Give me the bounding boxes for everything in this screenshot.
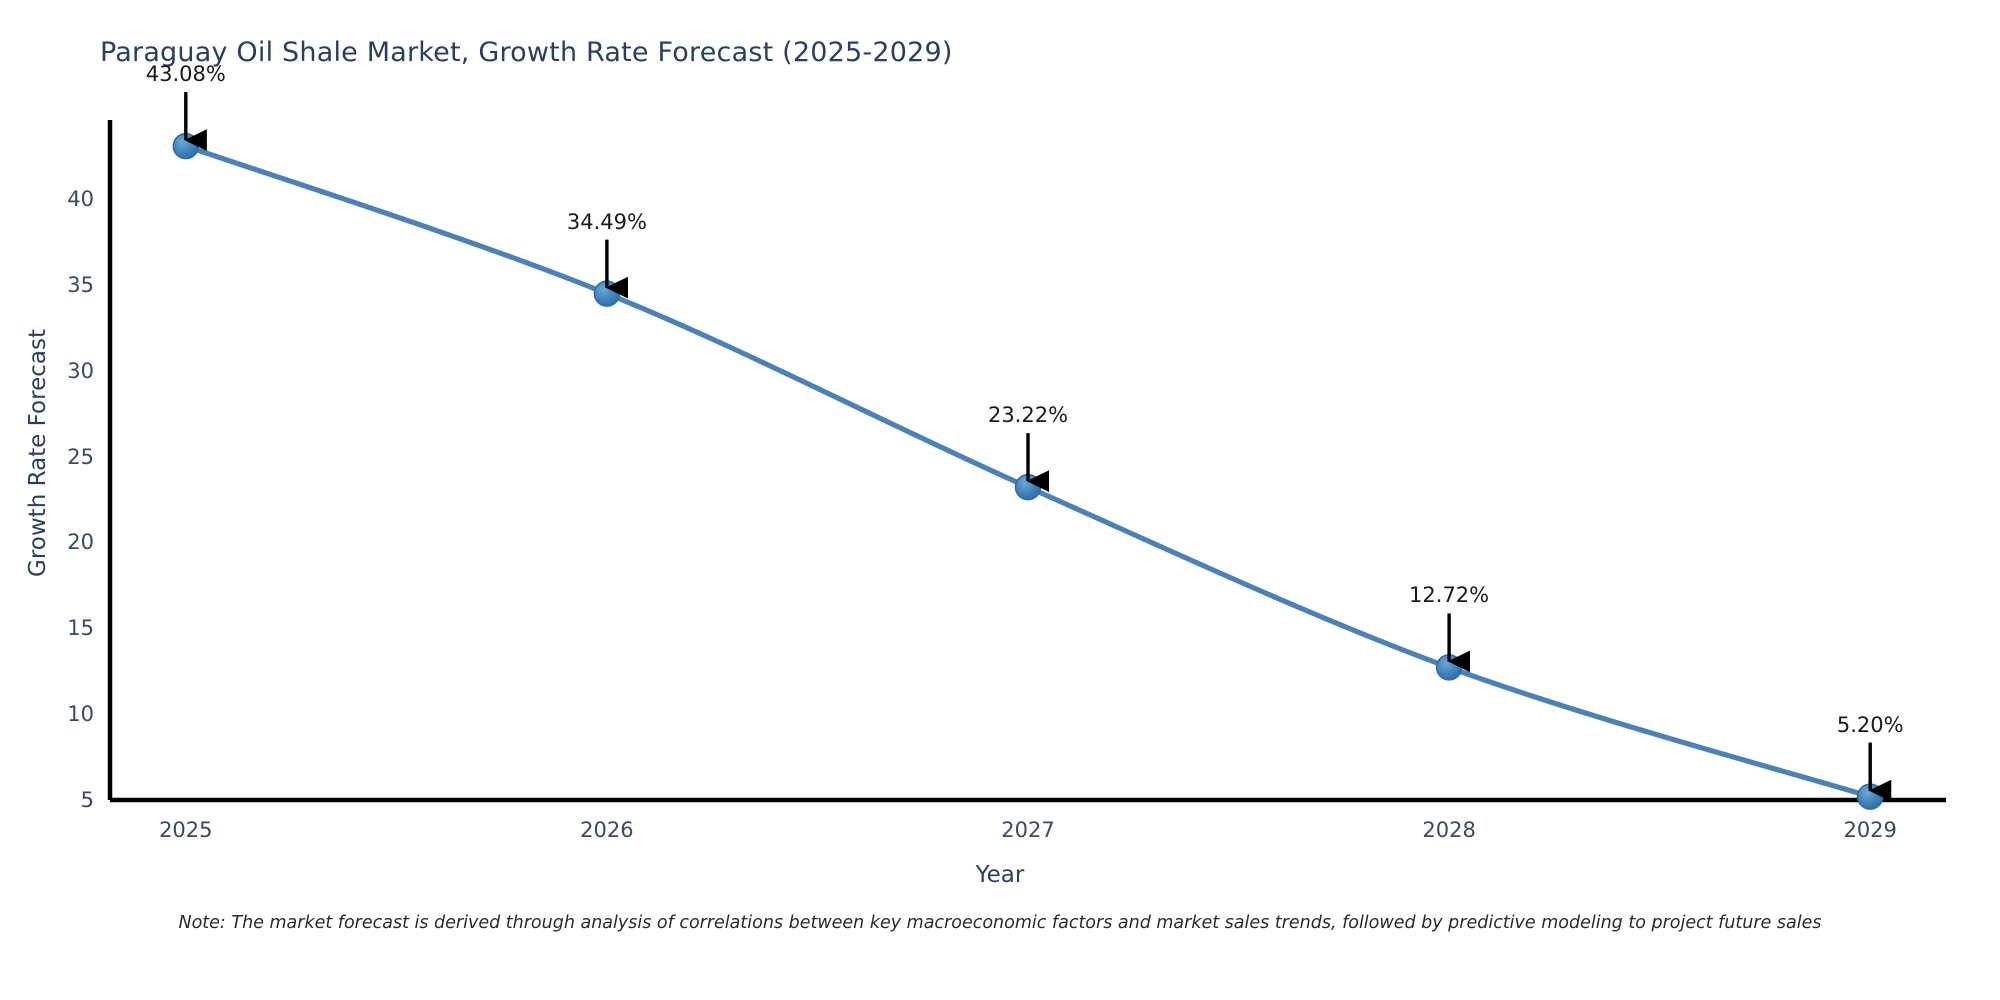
plot-canvas <box>0 0 2000 1000</box>
x-tick-label: 2025 <box>106 818 266 842</box>
y-tick-label: 15 <box>24 616 94 640</box>
y-tick-label: 10 <box>24 702 94 726</box>
x-tick-label: 2028 <box>1369 818 1529 842</box>
data-point-label: 23.22% <box>928 403 1128 427</box>
data-point-label: 12.72% <box>1349 583 1549 607</box>
data-point-label: 34.49% <box>507 210 707 234</box>
y-tick-label: 5 <box>24 788 94 812</box>
x-tick-label: 2027 <box>948 818 1108 842</box>
x-tick-label: 2029 <box>1790 818 1950 842</box>
data-point-label: 5.20% <box>1770 713 1970 737</box>
y-tick-label: 30 <box>24 359 94 383</box>
y-tick-label: 20 <box>24 530 94 554</box>
y-tick-label: 40 <box>24 187 94 211</box>
data-point-label: 43.08% <box>86 62 286 86</box>
chart-footnote: Note: The market forecast is derived thr… <box>0 913 2000 933</box>
x-axis-title: Year <box>0 862 2000 888</box>
y-tick-label: 35 <box>24 273 94 297</box>
x-tick-label: 2026 <box>527 818 687 842</box>
annotation-arrows <box>186 92 1870 790</box>
chart-figure: Paraguay Oil Shale Market, Growth Rate F… <box>0 0 2000 1000</box>
y-tick-label: 25 <box>24 445 94 469</box>
